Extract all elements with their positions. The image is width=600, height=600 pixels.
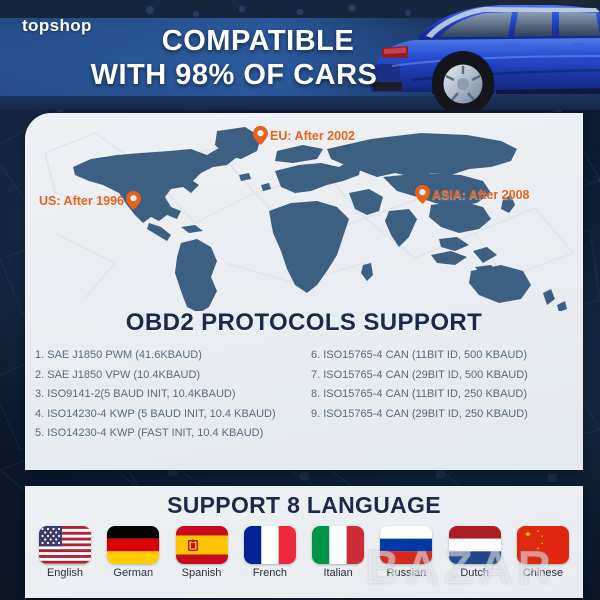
protocol-item: 4. ISO14230-4 KWP (5 BAUD INIT, 10.4 KBA… [35, 405, 307, 425]
protocol-item: 8. ISO15765-4 CAN (11BIT ID, 250 KBAUD) [311, 385, 583, 405]
map-region-eu: EU: After 2002 [253, 126, 355, 145]
language-label: Dutch [443, 567, 507, 579]
language-label: Spanish [170, 567, 234, 579]
headline-line-2: WITH 98% OF CARS [44, 59, 424, 92]
map-pin-icon [126, 191, 141, 210]
protocol-item: 3. ISO9141-2(5 BAUD INIT, 10.4KBAUD) [35, 385, 307, 405]
flag-china-icon [517, 526, 569, 564]
protocol-item: 2. SAE J1850 VPW (10.4KBAUD) [35, 366, 307, 386]
map-region-asia: ASIA: After 2008 [415, 185, 530, 204]
protocol-item: 5. ISO14230-4 KWP (FAST INIT, 10.4 KBAUD… [35, 424, 307, 444]
flag-italy-icon [312, 526, 364, 564]
map-pin-icon [253, 126, 268, 145]
map-region-us: US: After 1996 [39, 191, 141, 210]
flag-spain-icon [176, 526, 228, 564]
flag-usa-icon [39, 526, 91, 564]
flag-russia-icon [380, 526, 432, 564]
languages-title: SUPPORT 8 LANGUAGE [25, 492, 583, 519]
map-and-protocols-panel: US: After 1996 EU: After 2002 ASIA [25, 113, 583, 470]
protocol-item: 6. ISO15765-4 CAN (11BIT ID, 500 KBAUD) [311, 346, 583, 366]
map-region-eu-label: EU: After 2002 [270, 129, 355, 143]
protocols-list: 1. SAE J1850 PWM (41.6KBAUD) 2. SAE J185… [25, 346, 583, 466]
language-label: French [238, 567, 302, 579]
language-item-spanish: Spanish [170, 526, 234, 579]
languages-panel: SUPPORT 8 LANGUAGE [25, 486, 583, 598]
world-map: US: After 1996 EU: After 2002 ASIA [25, 113, 583, 311]
map-region-us-label: US: After 1996 [39, 194, 124, 208]
language-item-german: German [101, 526, 165, 579]
protocols-column-left: 1. SAE J1850 PWM (41.6KBAUD) 2. SAE J185… [25, 346, 307, 466]
language-label: English [33, 567, 97, 579]
flag-france-icon [244, 526, 296, 564]
flags-row: English German [33, 526, 575, 579]
map-pin-icon [415, 185, 430, 204]
language-label: Italian [306, 567, 370, 579]
language-item-italian: Italian [306, 526, 370, 579]
language-item-chinese: Chinese [511, 526, 575, 579]
language-item-english: English [33, 526, 97, 579]
brand-logo: topshop [22, 16, 92, 36]
language-label: Chinese [511, 567, 575, 579]
protocol-item: 1. SAE J1850 PWM (41.6KBAUD) [35, 346, 307, 366]
language-item-russian: Russian [374, 526, 438, 579]
language-label: German [101, 567, 165, 579]
language-label: Russian [374, 567, 438, 579]
header-banner: topshop COMPATIBLE WITH 98% OF CARS [0, 0, 600, 110]
language-item-french: French [238, 526, 302, 579]
protocol-item: 9. ISO15765-4 CAN (29BIT ID, 250 KBAUD) [311, 405, 583, 425]
headline-line-1: COMPATIBLE [44, 26, 424, 56]
language-item-dutch: Dutch [443, 526, 507, 579]
protocol-item: 7. ISO15765-4 CAN (29BIT ID, 500 KBAUD) [311, 366, 583, 386]
product-infographic: topshop COMPATIBLE WITH 98% OF CARS [0, 0, 600, 600]
map-region-asia-label: ASIA: After 2008 [432, 188, 530, 202]
protocols-title: OBD2 PROTOCOLS SUPPORT [25, 309, 583, 337]
protocols-column-right: 6. ISO15765-4 CAN (11BIT ID, 500 KBAUD) … [307, 346, 583, 466]
flag-germany-icon [107, 526, 159, 564]
flag-netherlands-icon [449, 526, 501, 564]
headline: COMPATIBLE WITH 98% OF CARS [44, 26, 424, 93]
